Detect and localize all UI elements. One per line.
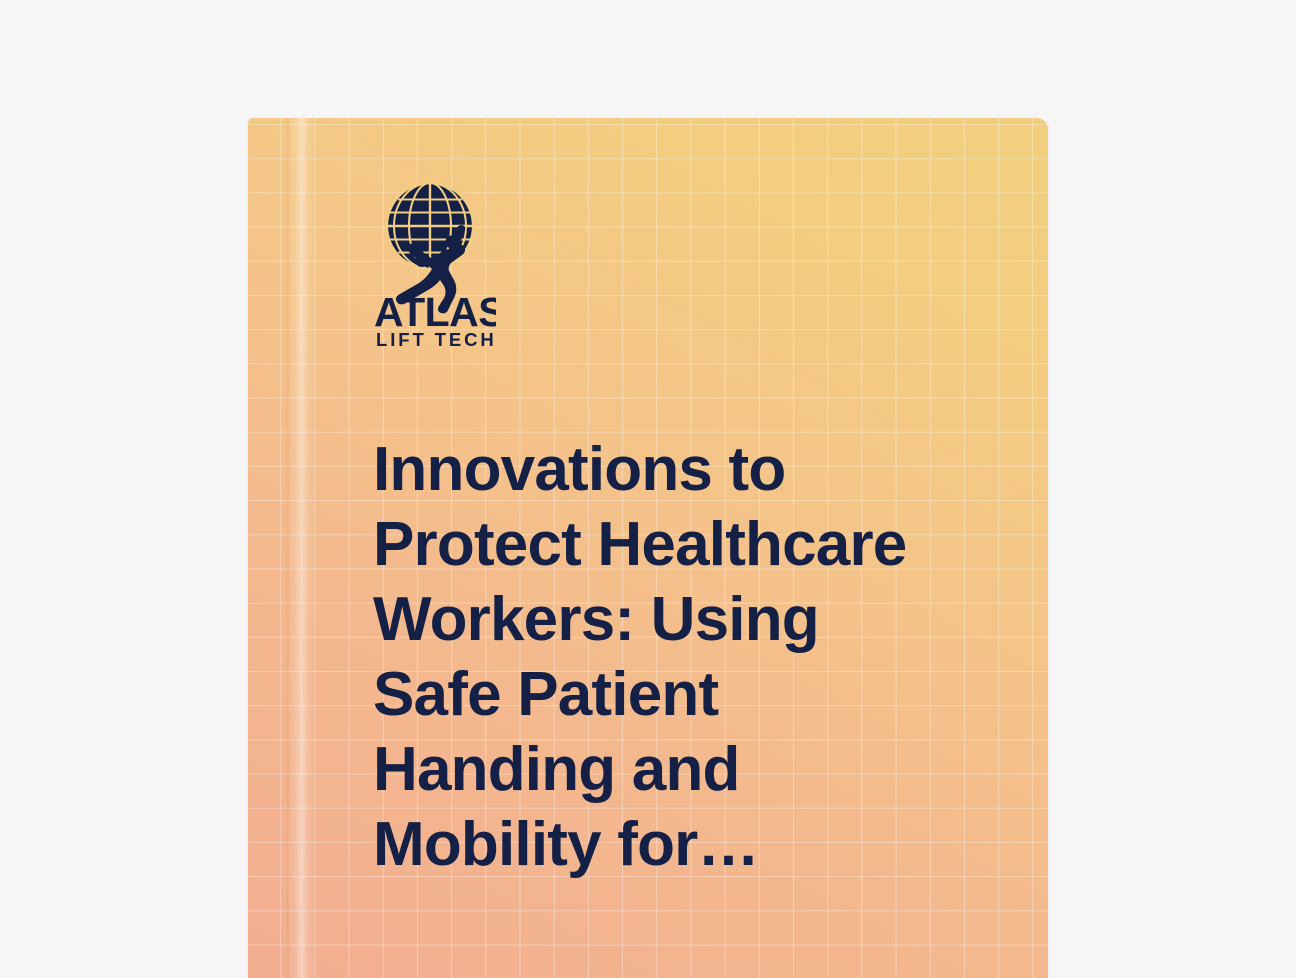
cover-crease bbox=[286, 118, 289, 978]
atlas-lift-tech-logo: ATLAS LIFT TECH bbox=[372, 178, 496, 350]
cover-spine-highlight bbox=[288, 118, 314, 978]
screenshot-stage: ATLAS LIFT TECH Innovations to Protect H… bbox=[0, 0, 1296, 972]
cover-title: Innovations to Protect Healthcare Worker… bbox=[373, 432, 993, 882]
svg-text:LIFT TECH: LIFT TECH bbox=[376, 329, 496, 350]
report-cover-card[interactable]: ATLAS LIFT TECH Innovations to Protect H… bbox=[248, 118, 1048, 978]
atlas-wordmark: ATLAS LIFT TECH bbox=[374, 289, 496, 350]
